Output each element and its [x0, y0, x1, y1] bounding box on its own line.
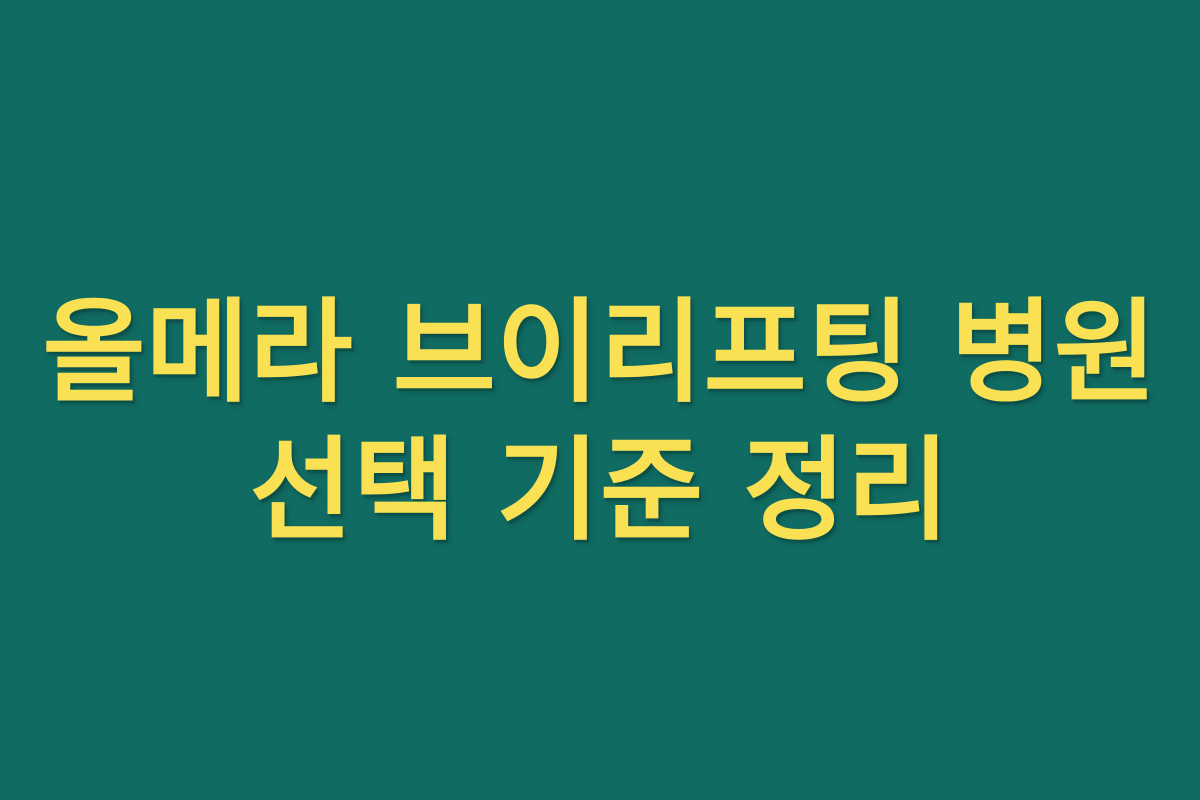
headline-line-2: 선택 기준 정리: [250, 422, 951, 560]
headline-line-1: 올메라 브이리프팅 병원: [42, 284, 1157, 422]
headline-block: 올메라 브이리프팅 병원 선택 기준 정리: [0, 284, 1200, 560]
banner-canvas: 올메라 브이리프팅 병원 선택 기준 정리: [0, 0, 1200, 800]
